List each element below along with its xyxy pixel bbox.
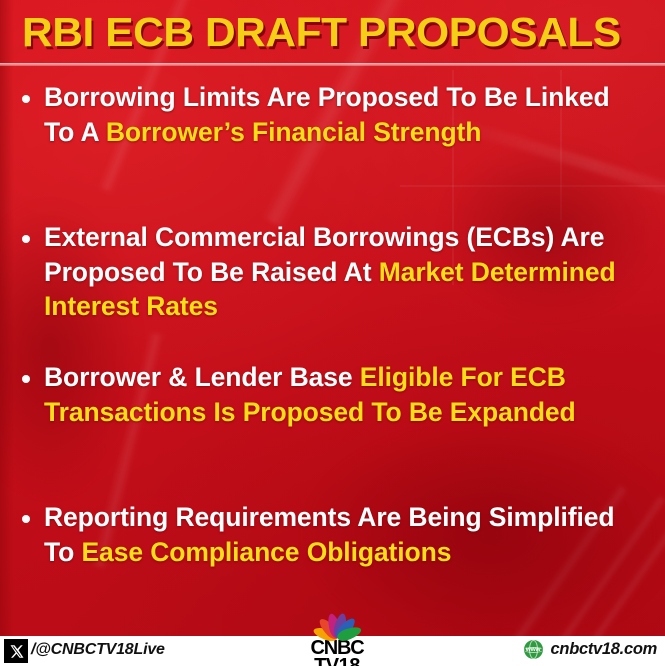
channel-logo-line2: TV18 xyxy=(298,657,376,666)
social-handle[interactable]: /@CNBCTV18Live xyxy=(31,641,165,659)
website-link[interactable]: www cnbctv18.com xyxy=(524,640,657,659)
x-twitter-icon[interactable] xyxy=(4,639,28,663)
list-item: Borrowing Limits Are Proposed To Be Link… xyxy=(22,80,647,149)
bullet-3-plain: Borrower & Lender Base xyxy=(44,362,360,392)
list-item: Borrower & Lender Base Eligible For ECB … xyxy=(22,360,647,429)
nbc-peacock-icon xyxy=(301,612,373,638)
header-bar: RBI ECB DRAFT PROPOSALS xyxy=(0,0,665,63)
page-title: RBI ECB DRAFT PROPOSALS xyxy=(22,12,621,53)
bullet-text-4: Reporting Requirements Are Being Simplif… xyxy=(44,500,647,569)
list-item: External Commercial Borrowings (ECBs) Ar… xyxy=(22,220,647,324)
website-url[interactable]: cnbctv18.com xyxy=(551,640,657,659)
bullet-dot-icon xyxy=(22,515,30,523)
channel-logo: CNBC TV18 xyxy=(298,612,376,666)
bullet-dot-icon xyxy=(22,235,30,243)
news-graphic-card: RBI ECB DRAFT PROPOSALS Borrowing Limits… xyxy=(0,0,665,666)
proposals-list: Borrowing Limits Are Proposed To Be Link… xyxy=(0,68,665,613)
globe-www-label: www xyxy=(526,640,541,659)
bullet-dot-icon xyxy=(22,95,30,103)
bullet-text-2: External Commercial Borrowings (ECBs) Ar… xyxy=(44,220,647,324)
bullet-1-highlight: Borrower’s Financial Strength xyxy=(106,117,482,147)
www-globe-icon: www xyxy=(524,640,543,659)
bullet-dot-icon xyxy=(22,375,30,383)
header-divider xyxy=(0,63,665,66)
bullet-4-highlight: Ease Compliance Obligations xyxy=(81,537,451,567)
bullet-text-3: Borrower & Lender Base Eligible For ECB … xyxy=(44,360,647,429)
list-item: Reporting Requirements Are Being Simplif… xyxy=(22,500,647,569)
bullet-text-1: Borrowing Limits Are Proposed To Be Link… xyxy=(44,80,647,149)
